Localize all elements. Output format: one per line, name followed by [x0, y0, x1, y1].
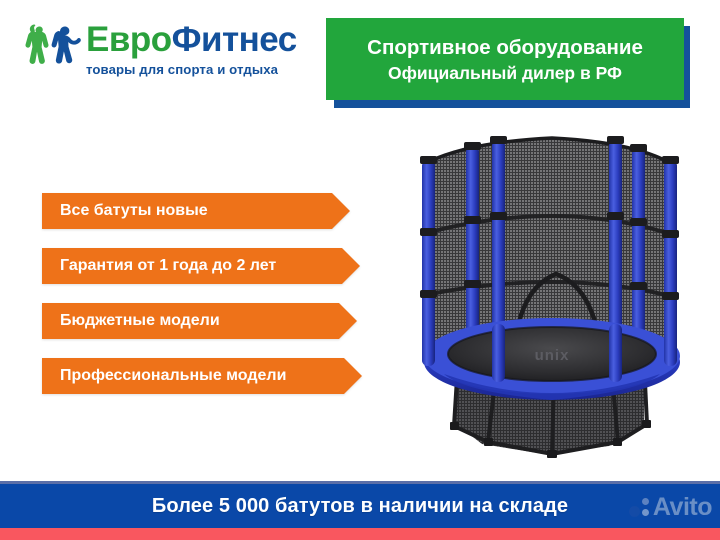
- female-athlete-icon: [25, 25, 48, 64]
- feature-item-4: Профессиональные модели: [42, 358, 344, 394]
- footer-accent-strip: [0, 528, 720, 540]
- avito-dots-icon: [629, 496, 651, 518]
- footer-bar: Более 5 000 батутов в наличии на складе: [0, 484, 720, 528]
- brand-logo: ЕвроФитнес товары для спорта и отдыха: [22, 20, 322, 86]
- header-banner-line1: Спортивное оборудование: [367, 34, 643, 61]
- feature-item-2: Гарантия от 1 года до 2 лет: [42, 248, 342, 284]
- promo-banner-page: ЕвроФитнес товары для спорта и отдыха Сп…: [0, 0, 720, 540]
- avito-wordmark: Avito: [653, 494, 712, 520]
- feature-label: Профессиональные модели: [60, 367, 286, 385]
- brand-name-part2: Фитнес: [172, 20, 297, 59]
- feature-label: Бюджетные модели: [60, 312, 220, 330]
- header-banner: Спортивное оборудование Официальный диле…: [326, 18, 684, 100]
- feature-item-3: Бюджетные модели: [42, 303, 339, 339]
- avito-watermark: Avito: [629, 489, 712, 525]
- athletes-icon: [22, 22, 86, 82]
- feature-list: Все батуты новые Гарантия от 1 года до 2…: [42, 193, 367, 394]
- feature-label: Гарантия от 1 года до 2 лет: [60, 257, 276, 275]
- product-brand-text: unix: [535, 347, 570, 364]
- footer-text: Более 5 000 батутов в наличии на складе: [152, 495, 568, 518]
- male-athlete-icon: [52, 26, 81, 63]
- feature-label: Все батуты новые: [60, 202, 208, 220]
- brand-name-part1: Евро: [86, 20, 172, 59]
- header-banner-line2: Официальный дилер в РФ: [388, 61, 622, 85]
- brand-wordmark: ЕвроФитнес товары для спорта и отдыха: [86, 20, 322, 78]
- feature-item-1: Все батуты новые: [42, 193, 332, 229]
- trampoline-image: unix: [404, 124, 704, 464]
- brand-tagline: товары для спорта и отдыха: [86, 61, 322, 78]
